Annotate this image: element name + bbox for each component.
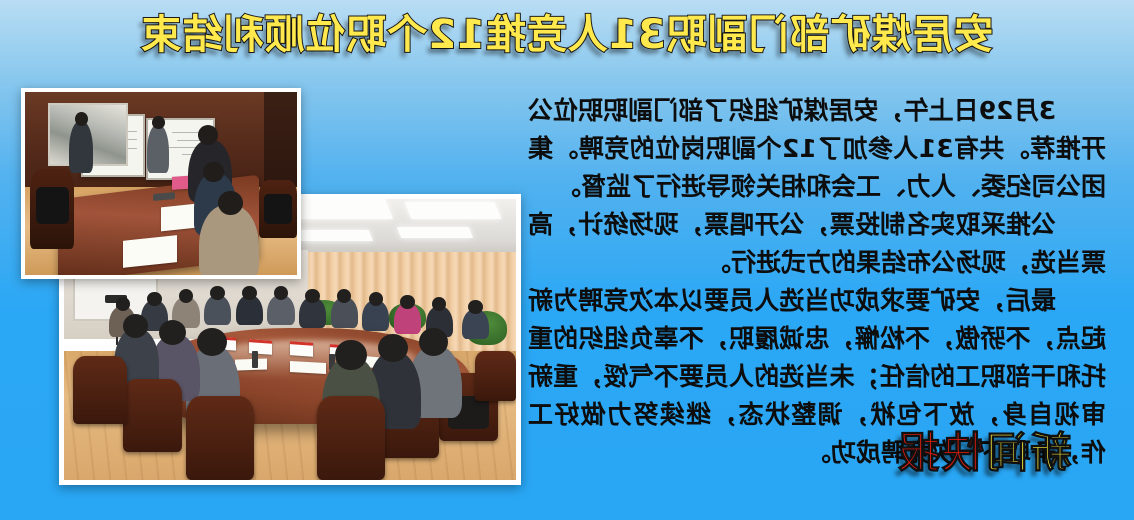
- attendee-head: [378, 334, 407, 362]
- attendee-head: [242, 286, 256, 300]
- document-sheet: [290, 361, 326, 374]
- chair: [73, 356, 127, 423]
- ceiling-light-2: [286, 199, 393, 219]
- attendee-head: [123, 314, 148, 338]
- article-paragraph-2: 公推采取实名制投票，公开唱票，现场统计，高票当选，现场公布结果的方式进行。: [528, 206, 1106, 282]
- article-paragraph-1: 3月29日上午，安居煤矿组织了部门副职职位公开推荐。共有31人参加了12个副职岗…: [528, 92, 1106, 206]
- news-brand-logo: 新闻快报: [896, 432, 1072, 474]
- attendee-head: [210, 286, 224, 300]
- ceiling-light-1: [404, 202, 501, 219]
- attendee-head: [147, 292, 161, 306]
- standing-person: [147, 125, 169, 173]
- person-head: [218, 191, 242, 215]
- name-card: [290, 342, 313, 358]
- person-head: [198, 125, 218, 145]
- standing-person: [69, 121, 93, 172]
- chair: [123, 379, 182, 452]
- chair-seat: [36, 187, 69, 224]
- ceiling-light-4: [396, 227, 473, 238]
- logo-text-xinwen: 新闻: [984, 428, 1072, 477]
- attendee-head: [179, 289, 193, 303]
- logo-text-kuaibao: 快报: [896, 428, 984, 477]
- attendee-head: [197, 328, 226, 356]
- desk-microphone: [252, 351, 258, 368]
- person-head: [152, 116, 165, 129]
- person-head: [75, 112, 88, 126]
- chair-seat: [264, 194, 291, 223]
- attendee-head: [468, 300, 482, 314]
- person-head: [203, 162, 223, 182]
- news-poster: 安居煤矿部门副职31人竞推12个职位顺利结束 3月29日上午，安居煤矿组织了部门…: [0, 0, 1134, 520]
- seated-person-foreground: [199, 205, 259, 275]
- page-title: 安居煤矿部门副职31人竞推12个职位顺利结束: [0, 12, 1134, 58]
- attendee-head: [159, 320, 186, 345]
- attendee-head: [400, 295, 414, 309]
- chair: [317, 396, 385, 480]
- ceiling-light-5: [297, 230, 374, 241]
- attendee-head: [305, 289, 319, 303]
- photo-inset-voting: [21, 88, 301, 279]
- chair: [186, 396, 254, 480]
- attendee-head: [335, 340, 367, 371]
- photo-inset-scene: [25, 92, 297, 275]
- article-body: 3月29日上午，安居煤矿组织了部门副职职位公开推荐。共有31人参加了12个副职岗…: [528, 92, 1106, 472]
- attendee-head: [369, 292, 383, 306]
- chair: [475, 351, 516, 402]
